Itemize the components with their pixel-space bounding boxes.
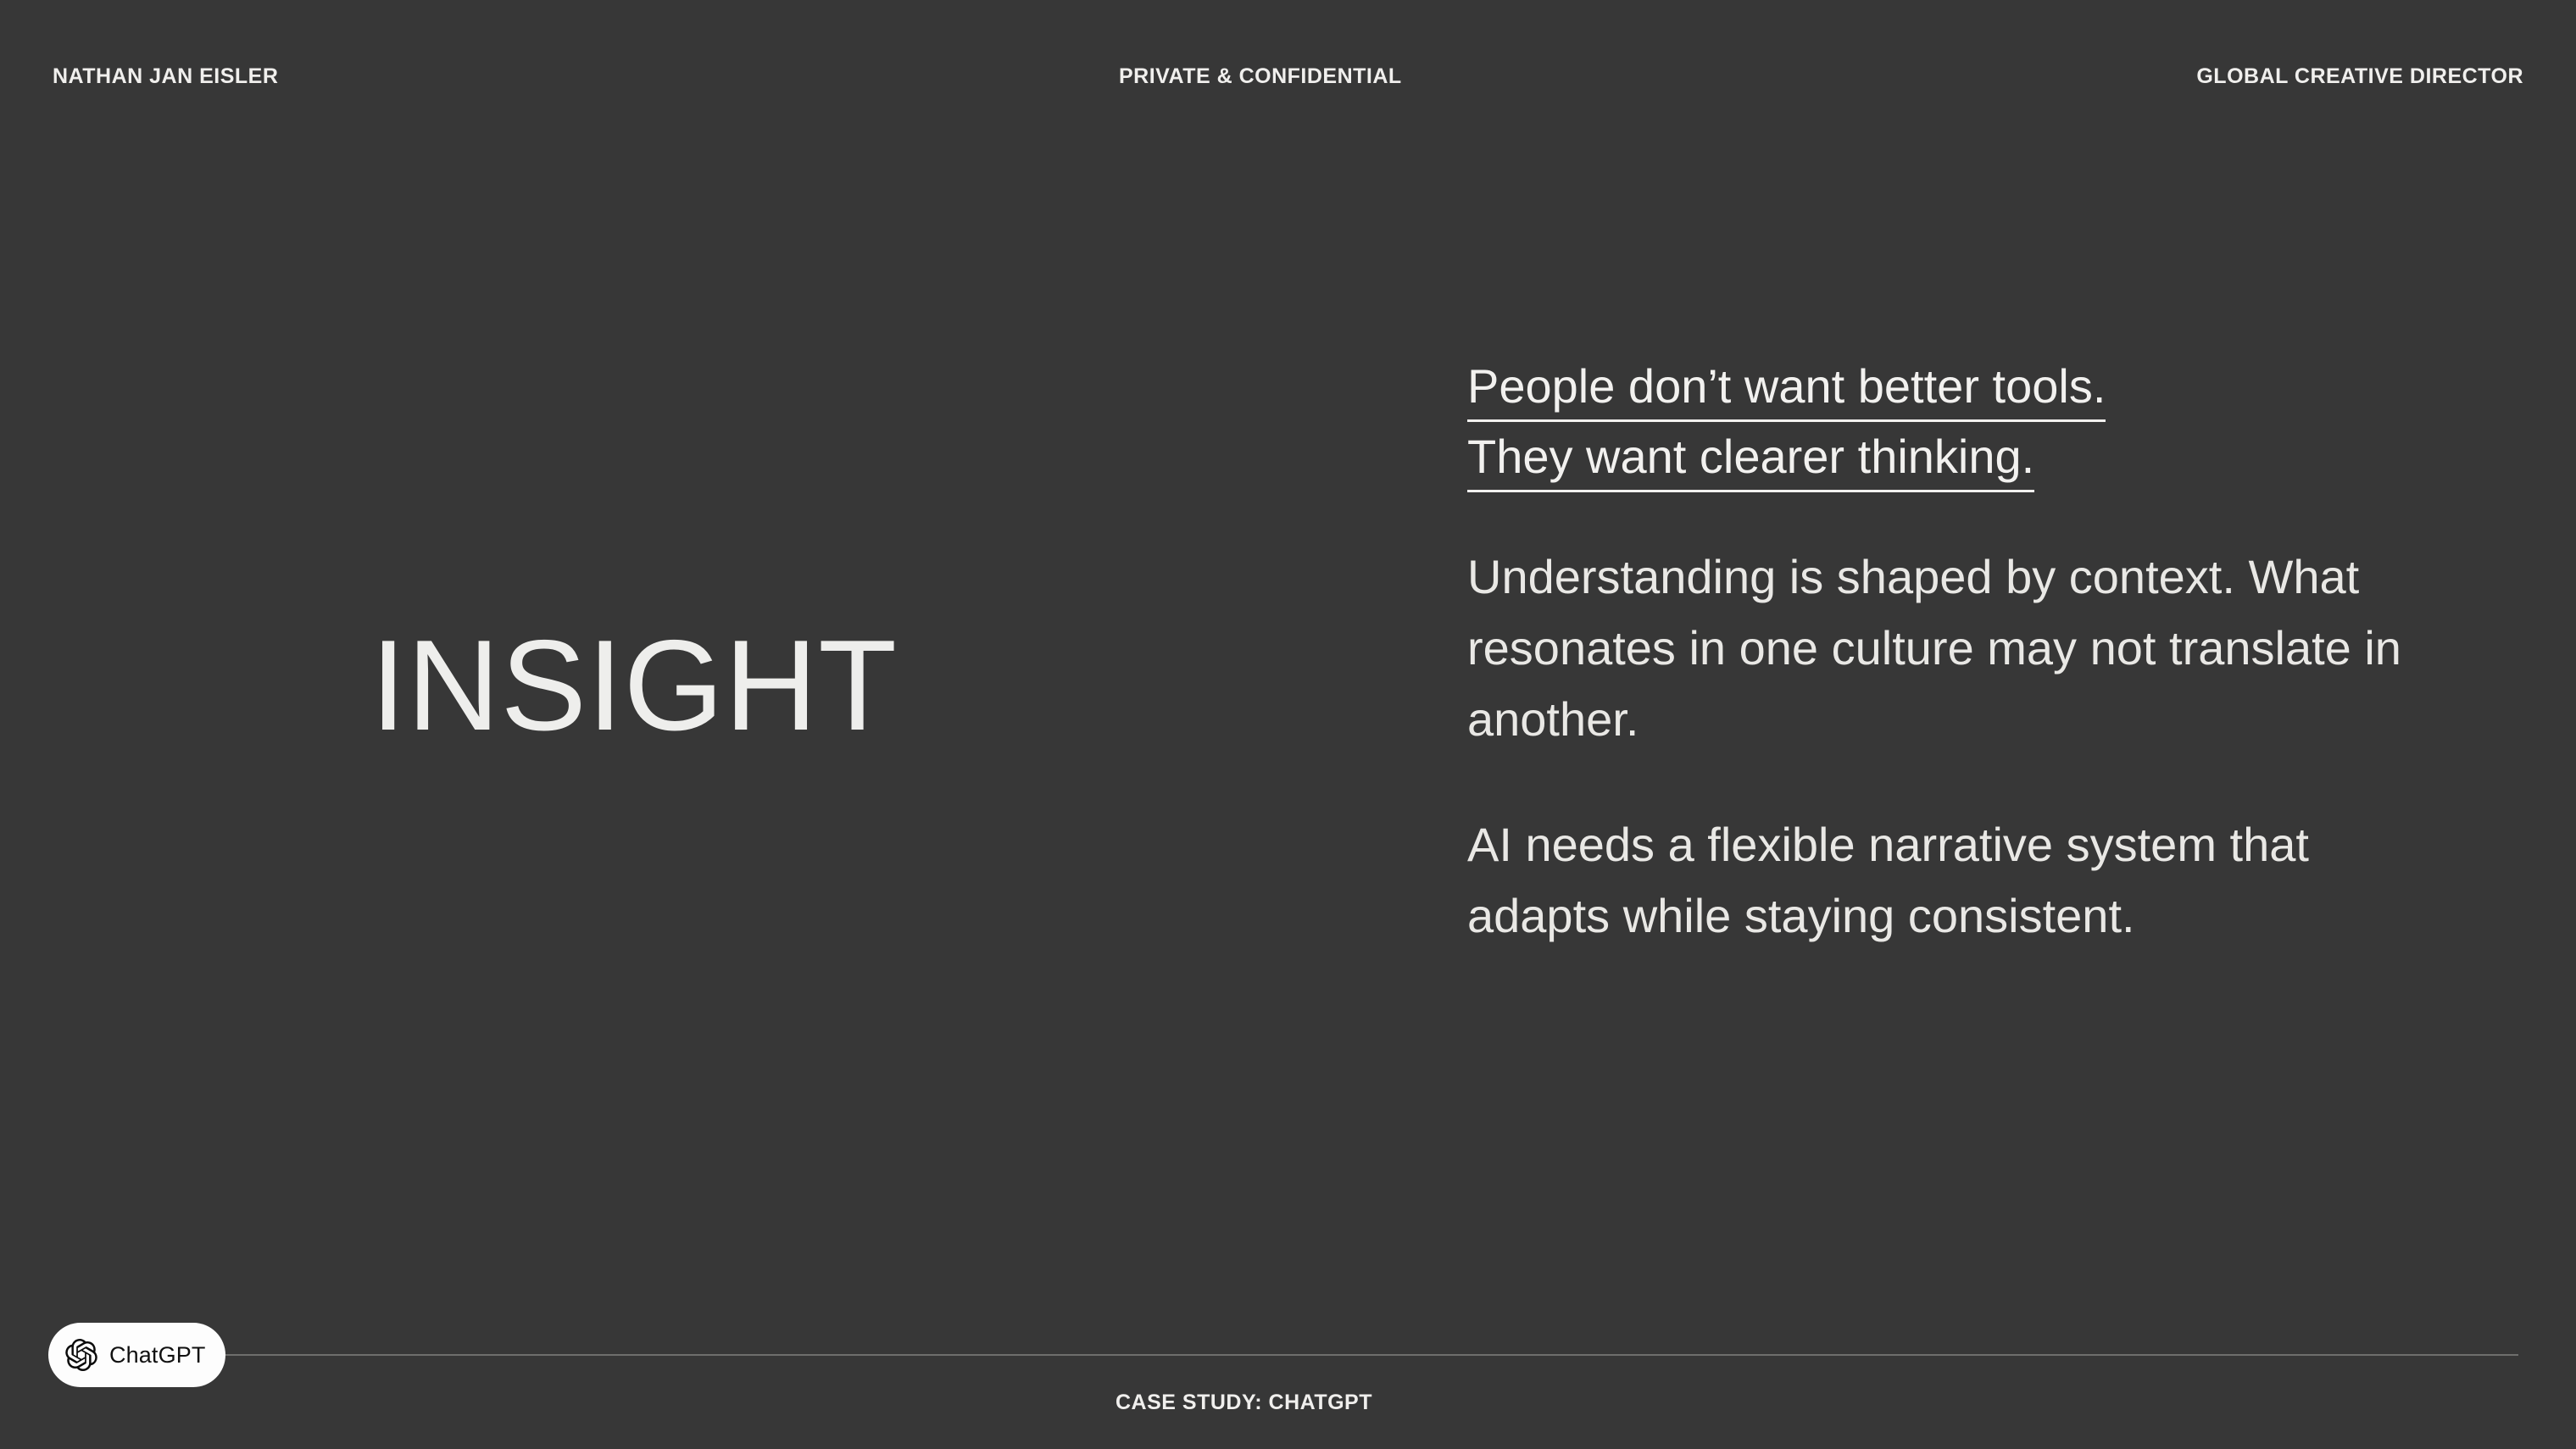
presenter-name: NATHAN JAN EISLER bbox=[53, 61, 278, 92]
slide-topbar: NATHAN JAN EISLER PRIVATE & CONFIDENTIAL… bbox=[0, 61, 2576, 92]
slide-canvas: NATHAN JAN EISLER PRIVATE & CONFIDENTIAL… bbox=[0, 0, 2576, 1449]
chatgpt-brand-badge[interactable]: ChatGPT bbox=[48, 1323, 225, 1387]
footer-divider bbox=[210, 1354, 2518, 1356]
openai-logo-icon bbox=[65, 1339, 97, 1371]
footer-caption: CASE STUDY: CHATGPT bbox=[0, 1387, 2576, 1418]
section-headline: INSIGHT bbox=[370, 621, 898, 750]
confidentiality-notice: PRIVATE & CONFIDENTIAL bbox=[1119, 61, 1402, 92]
copy-column: People don’t want better tools. They wan… bbox=[1467, 356, 2442, 952]
lead-statement: People don’t want better tools. They wan… bbox=[1467, 356, 2442, 492]
chatgpt-badge-label: ChatGPT bbox=[109, 1342, 205, 1368]
lead-statement-line-2: They want clearer thinking. bbox=[1467, 426, 2034, 492]
lead-statement-line-1: People don’t want better tools. bbox=[1467, 356, 2106, 422]
presenter-role: GLOBAL CREATIVE DIRECTOR bbox=[2196, 61, 2523, 92]
footer-caption-label: CASE STUDY: CHATGPT bbox=[1116, 1387, 1372, 1418]
body-paragraph-1: Understanding is shaped by context. What… bbox=[1467, 541, 2442, 755]
body-paragraph-2: AI needs a flexible narrative system tha… bbox=[1467, 809, 2442, 952]
